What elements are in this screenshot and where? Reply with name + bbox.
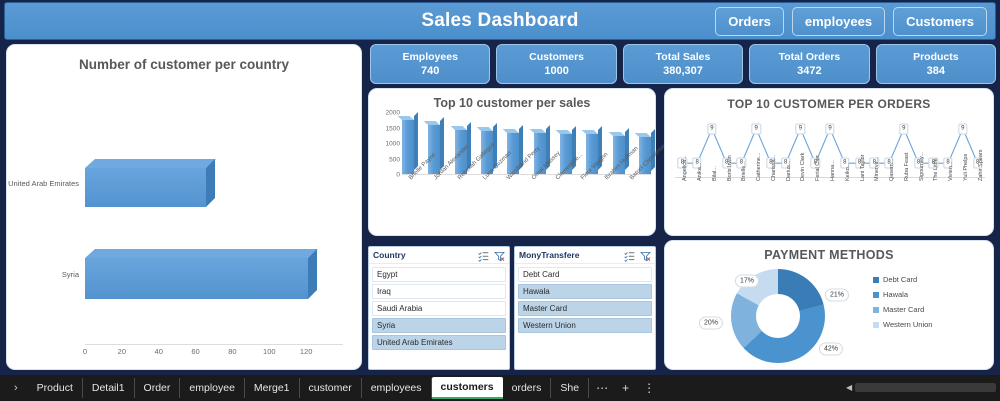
- bar-side-face: [206, 159, 215, 207]
- data-label: 9: [707, 123, 716, 134]
- data-label: 9: [899, 123, 908, 134]
- clear-filter-icon[interactable]: [640, 249, 651, 267]
- slicer-transfer-title: MonyTransfere: [519, 250, 579, 260]
- legend-label: Hawala: [883, 290, 908, 299]
- data-label: 9: [752, 123, 761, 134]
- x-tick: 100: [263, 347, 276, 356]
- nav-employees[interactable]: employees: [792, 7, 885, 36]
- category-label: Catherine...: [756, 153, 762, 181]
- kpi-label: Total Sales: [656, 51, 711, 64]
- kpi-card[interactable]: Products384: [876, 44, 996, 84]
- slicer-country-icons: [478, 249, 505, 267]
- sheet-tab[interactable]: employees: [362, 378, 432, 398]
- x-axis-ticks: 020406080100120: [85, 347, 343, 361]
- vertical-bar-plot: 0500100015002000 Brielle PayneJordan Ale…: [369, 113, 657, 237]
- bar-group: United Arab Emirates: [85, 159, 206, 207]
- category-label: Minerva...: [874, 157, 880, 181]
- donut-data-label: 17%: [735, 275, 759, 288]
- legend-item: Hawala: [873, 290, 977, 299]
- multi-select-icon[interactable]: [624, 249, 635, 267]
- chart-panel-top10-sales: Top 10 customer per sales 05001000150020…: [368, 88, 656, 236]
- sheet-nav-next-icon[interactable]: ›: [0, 382, 28, 394]
- multi-select-icon[interactable]: [478, 249, 489, 267]
- sheet-tab[interactable]: customer: [300, 378, 362, 398]
- sheet-tab[interactable]: Product: [28, 378, 83, 398]
- slicer-item-transfer[interactable]: Western Union: [518, 318, 652, 333]
- category-label: Darius...: [786, 161, 792, 181]
- legend-item: Master Card: [873, 305, 977, 314]
- legend-item: Debt Card: [873, 275, 977, 284]
- y-tick: 0: [396, 172, 400, 179]
- slicer-country-header: Country: [369, 247, 509, 264]
- orders-axis-categories: Angelica...Anika...Bilal...Boris IrwinBr…: [675, 179, 985, 235]
- data-label: 9: [958, 123, 967, 134]
- x-tick: 0: [83, 347, 87, 356]
- bar-group: Syria: [85, 249, 308, 299]
- category-label: Hanna...: [830, 160, 836, 181]
- category-label: Qasem...: [889, 159, 895, 181]
- x-tick: 60: [191, 347, 199, 356]
- slicer-country-title: Country: [373, 250, 406, 260]
- legend-label: Western Union: [883, 320, 932, 329]
- kpi-card[interactable]: Total Orders3472: [749, 44, 869, 84]
- x-tick: 80: [228, 347, 236, 356]
- data-label: 9: [796, 123, 805, 134]
- category-label: Boris Irwin: [727, 155, 733, 181]
- x-tick: 20: [118, 347, 126, 356]
- kpi-label: Customers: [529, 51, 584, 64]
- nav-orders[interactable]: Orders: [715, 7, 784, 36]
- scroll-left-icon[interactable]: ◀: [846, 383, 852, 392]
- data-label: 9: [825, 123, 834, 134]
- legend-swatch: [873, 292, 879, 298]
- kpi-strip: Employees740Customers1000Total Sales380,…: [370, 44, 996, 84]
- bar-front-face: [85, 258, 308, 299]
- sheet-tab[interactable]: orders: [503, 378, 552, 398]
- kpi-value: 384: [927, 64, 945, 78]
- donut-data-label: 20%: [699, 317, 723, 330]
- x-tick: 40: [155, 347, 163, 356]
- y-tick: 1500: [386, 125, 400, 132]
- donut-plot: 21%42%20%17%: [689, 267, 889, 367]
- slicer-item-country[interactable]: United Arab Emirates: [372, 335, 506, 350]
- sheet-tab-bar: › ProductDetail1OrderemployeeMerge1custo…: [0, 375, 1000, 401]
- kpi-card[interactable]: Total Sales380,307: [623, 44, 743, 84]
- x-axis-line: [85, 344, 343, 345]
- chart-panel-top10-orders: TOP 10 CUSTOMER PER ORDERS 8898898898988…: [664, 88, 994, 236]
- bar-front-face: [85, 168, 206, 207]
- bar-top-face: [85, 249, 318, 258]
- y-axis-ticks: 0500100015002000: [374, 113, 400, 175]
- category-label: Ferial Carr: [815, 155, 821, 181]
- bar-top-face: [85, 159, 216, 168]
- slicer-item-country[interactable]: Saudi Arabia: [372, 301, 506, 316]
- legend-item: Western Union: [873, 320, 977, 329]
- dashboard-header: Sales Dashboard OrdersemployeesCustomers: [4, 2, 996, 40]
- clear-filter-icon[interactable]: [494, 249, 505, 267]
- slicer-item-transfer[interactable]: Master Card: [518, 301, 652, 316]
- bar-category-label: Syria: [62, 270, 79, 279]
- category-label: Angelica...: [682, 155, 688, 181]
- chart-panel-customers-per-country: Number of customer per country United Ar…: [6, 44, 362, 370]
- sheet-options-icon[interactable]: ⋮: [636, 381, 662, 395]
- x-axis-categories: Brielle PayneJordan AlexanderRebekah Gal…: [402, 177, 651, 235]
- dashboard-root: Sales Dashboard OrdersemployeesCustomers…: [0, 0, 1000, 401]
- sheet-tab[interactable]: Detail1: [83, 378, 135, 398]
- kpi-value: 380,307: [663, 64, 703, 78]
- category-label: Keiko...: [845, 163, 851, 181]
- x-tick: 120: [300, 347, 313, 356]
- chart-legend: Debt CardHawalaMaster CardWestern Union: [873, 275, 977, 335]
- bar-side-face: [440, 117, 444, 170]
- sheet-tab[interactable]: Order: [135, 378, 181, 398]
- legend-swatch: [873, 277, 879, 283]
- horizontal-scrollbar[interactable]: ◀: [846, 382, 996, 393]
- donut-data-label: 42%: [819, 343, 843, 356]
- chart-title-top10-sales: Top 10 customer per sales: [369, 96, 655, 110]
- slicer-item-country[interactable]: Syria: [372, 318, 506, 333]
- slicer-country-items: EgyptIraqSaudi ArabiaSyriaUnited Arab Em…: [369, 264, 509, 353]
- kpi-value: 740: [421, 64, 439, 78]
- category-label: Anika...: [697, 163, 703, 181]
- sheet-tab[interactable]: customers: [432, 377, 503, 399]
- bar-3d: [85, 249, 308, 299]
- category-label: Yuli Phelps: [963, 154, 969, 181]
- category-label: The Little: [933, 158, 939, 181]
- kpi-value: 1000: [544, 64, 568, 78]
- chart-panel-payment-methods: PAYMENT METHODS 21%42%20%17% Debt CardHa…: [664, 240, 994, 370]
- sheet-tab[interactable]: She: [551, 378, 589, 398]
- kpi-label: Products: [913, 51, 959, 64]
- category-label: Bilal...: [712, 166, 718, 181]
- slicer-transfer-items: Debt CardHawalaMaster CardWestern Union: [515, 264, 655, 336]
- category-label: Brielle...: [741, 161, 747, 181]
- sheet-overflow-icon[interactable]: ⋯: [589, 381, 615, 395]
- category-label: Ruba Feast: [904, 153, 910, 181]
- category-label: Lani Taylor: [860, 155, 866, 182]
- bar-front-face: [428, 125, 440, 174]
- legend-swatch: [873, 307, 879, 313]
- slicer-item-country[interactable]: Egypt: [372, 267, 506, 282]
- chart-title-payment-methods: PAYMENT METHODS: [665, 248, 993, 262]
- horizontal-bar-plot: United Arab EmiratesSyria: [7, 81, 363, 371]
- sheet-tabs: ProductDetail1OrderemployeeMerge1custome…: [28, 377, 589, 399]
- slicer-item-country[interactable]: Iraq: [372, 284, 506, 299]
- sheet-tab[interactable]: employee: [180, 378, 245, 398]
- kpi-value: 3472: [797, 64, 821, 78]
- donut-data-label: 21%: [825, 289, 849, 302]
- y-tick: 1000: [386, 141, 400, 148]
- bar-front-face: [402, 120, 414, 174]
- slicer-country[interactable]: Country: [368, 246, 510, 370]
- slicer-transfer-header: MonyTransfere: [515, 247, 655, 264]
- add-sheet-button[interactable]: +: [615, 381, 636, 395]
- legend-swatch: [873, 322, 879, 328]
- slicer-item-transfer[interactable]: Hawala: [518, 284, 652, 299]
- nav-customers[interactable]: Customers: [893, 7, 987, 36]
- bar-side-face: [651, 129, 655, 171]
- kpi-card[interactable]: Customers1000: [496, 44, 616, 84]
- bar-3d: [85, 159, 206, 207]
- bar-category-label: United Arab Emirates: [8, 179, 79, 188]
- kpi-label: Employees: [402, 51, 457, 64]
- category-label: Devin Clark: [800, 153, 806, 181]
- y-tick: 500: [389, 156, 400, 163]
- chart-title-top10-orders: TOP 10 CUSTOMER PER ORDERS: [665, 97, 993, 111]
- chart-title-customers-per-country: Number of customer per country: [7, 57, 361, 72]
- bar-side-face: [308, 249, 317, 299]
- bar: [402, 120, 414, 174]
- legend-label: Master Card: [883, 305, 924, 314]
- kpi-label: Total Orders: [779, 51, 841, 64]
- bar: [428, 125, 440, 174]
- donut-hole: [756, 294, 800, 338]
- slicer-item-transfer[interactable]: Debt Card: [518, 267, 652, 282]
- category-label: Charissa...: [771, 155, 777, 181]
- legend-label: Debt Card: [883, 275, 917, 284]
- category-label: Zahir Spears: [978, 150, 984, 182]
- scrollbar-track[interactable]: [855, 383, 996, 392]
- category-label: Sigourney...: [919, 152, 925, 181]
- slicer-transfer-icons: [624, 249, 651, 267]
- sheet-tab[interactable]: Merge1: [245, 378, 300, 398]
- category-label: Vivien...: [948, 162, 954, 181]
- slicer-mony-transfere[interactable]: MonyTransfere: [514, 246, 656, 370]
- bar-side-face: [414, 112, 418, 170]
- kpi-card[interactable]: Employees740: [370, 44, 490, 84]
- header-nav-buttons: OrdersemployeesCustomers: [715, 7, 987, 36]
